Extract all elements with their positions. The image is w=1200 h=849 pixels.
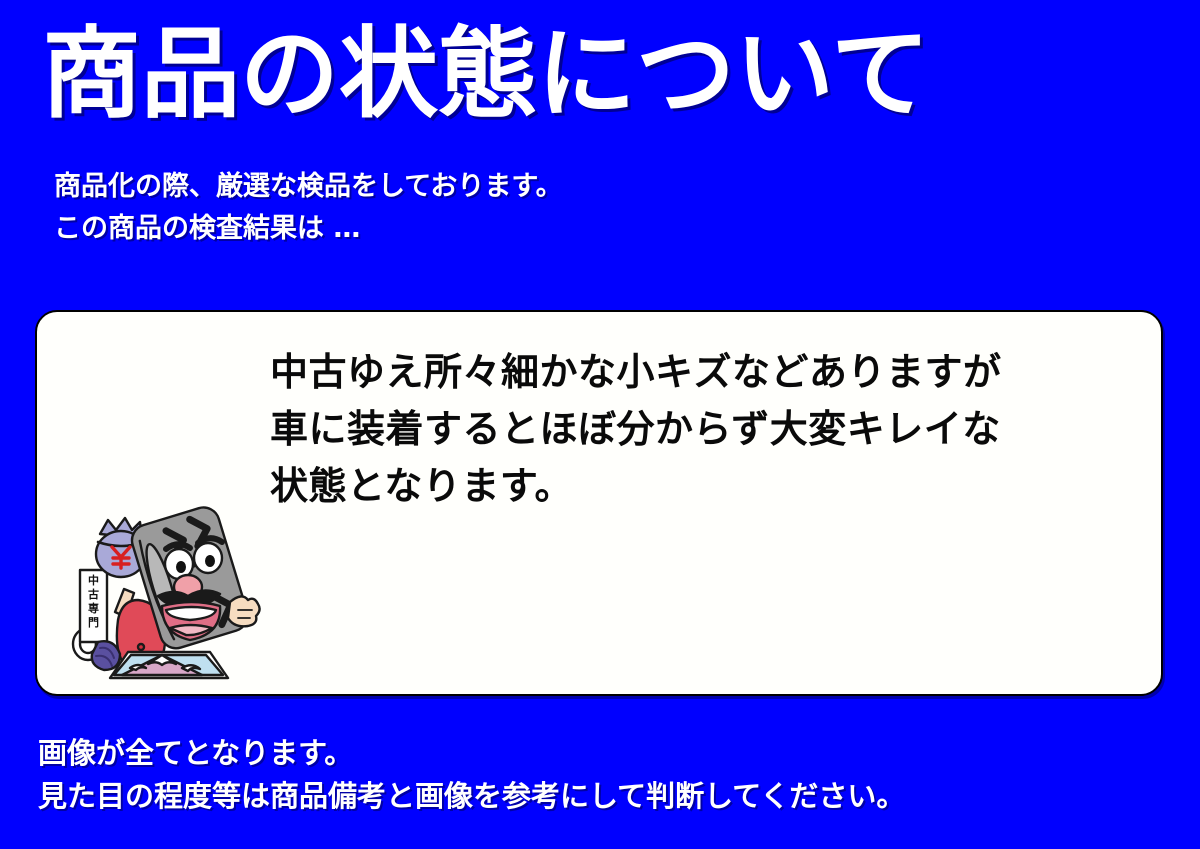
condition-text-block: 中古ゆえ所々細かな小キズなどありますが 車に装着するとほぼ分からず大変キレイな … [270,344,1130,515]
footer-line-2: 見た目の程度等は商品備考と画像を参考にして判断してください。 [38,775,1158,818]
condition-line-2: 車に装着するとほぼ分からず大変キレイな [270,401,1130,458]
intro-line-2: この商品の検査結果は … [54,208,954,250]
footer-line-1: 画像が全てとなります。 [38,732,1158,775]
page-title: 商品の状態について [42,10,1042,140]
footer-note-block: 画像が全てとなります。 見た目の程度等は商品備考と画像を参考にして判断してくださ… [38,732,1158,818]
svg-text:古: 古 [88,587,99,601]
svg-text:門: 門 [88,616,99,629]
product-condition-poster: 商品の状態について 商品化の際、厳選な検品をしております。 この商品の検査結果は… [0,0,1200,849]
condition-card: 中古ゆえ所々細かな小キズなどありますが 車に装着するとほぼ分からず大変キレイな … [35,310,1163,696]
tire-character-mascot-icon: 中 古 専 門 [62,492,272,692]
intro-text-block: 商品化の際、厳選な検品をしております。 この商品の検査結果は … [54,166,954,250]
intro-line-1: 商品化の際、厳選な検品をしております。 [54,166,954,208]
condition-line-1: 中古ゆえ所々細かな小キズなどありますが [270,344,1130,401]
svg-text:専: 専 [88,601,99,615]
svg-text:中: 中 [88,573,99,587]
condition-line-3: 状態となります。 [270,458,1130,515]
